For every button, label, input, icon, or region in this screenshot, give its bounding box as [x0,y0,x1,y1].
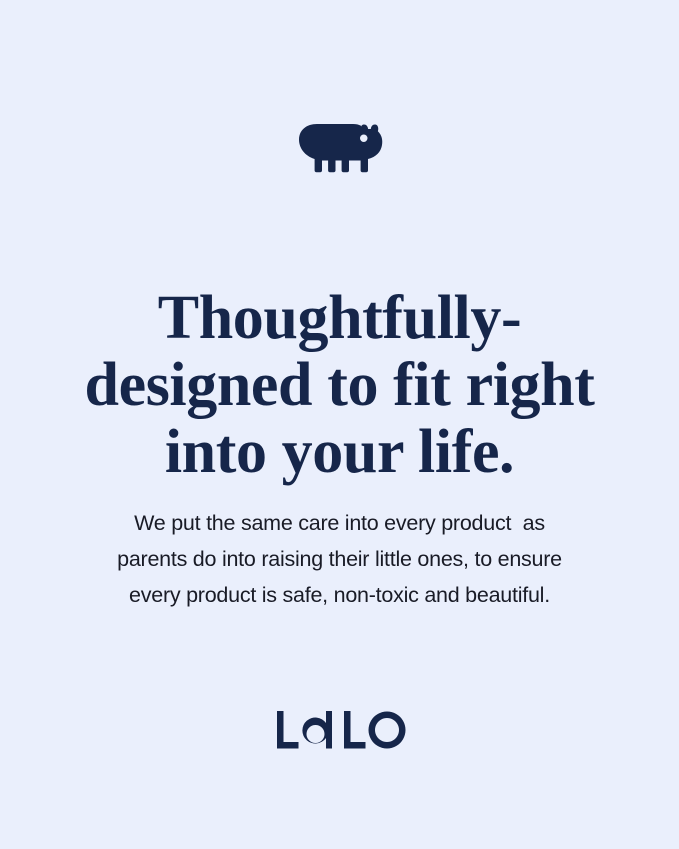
lalo-wordmark-icon [274,708,406,752]
body-copy: We put the same care into every product … [0,505,679,613]
headline-line-2: designed to fit right [40,352,639,419]
body-copy-line-3: every product is safe, non-toxic and bea… [60,577,619,613]
headline: Thoughtfully- designed to fit right into… [0,285,679,487]
brand-mark [0,120,679,176]
body-copy-line-1: We put the same care into every product … [60,505,619,541]
body-copy-line-2: parents do into raising their little one… [60,541,619,577]
headline-line-3: into your life. [40,419,639,486]
headline-line-1: Thoughtfully- [40,285,639,352]
promo-card: Thoughtfully- designed to fit right into… [0,0,679,849]
hippo-icon [297,120,383,176]
lalo-wordmark [0,708,679,752]
